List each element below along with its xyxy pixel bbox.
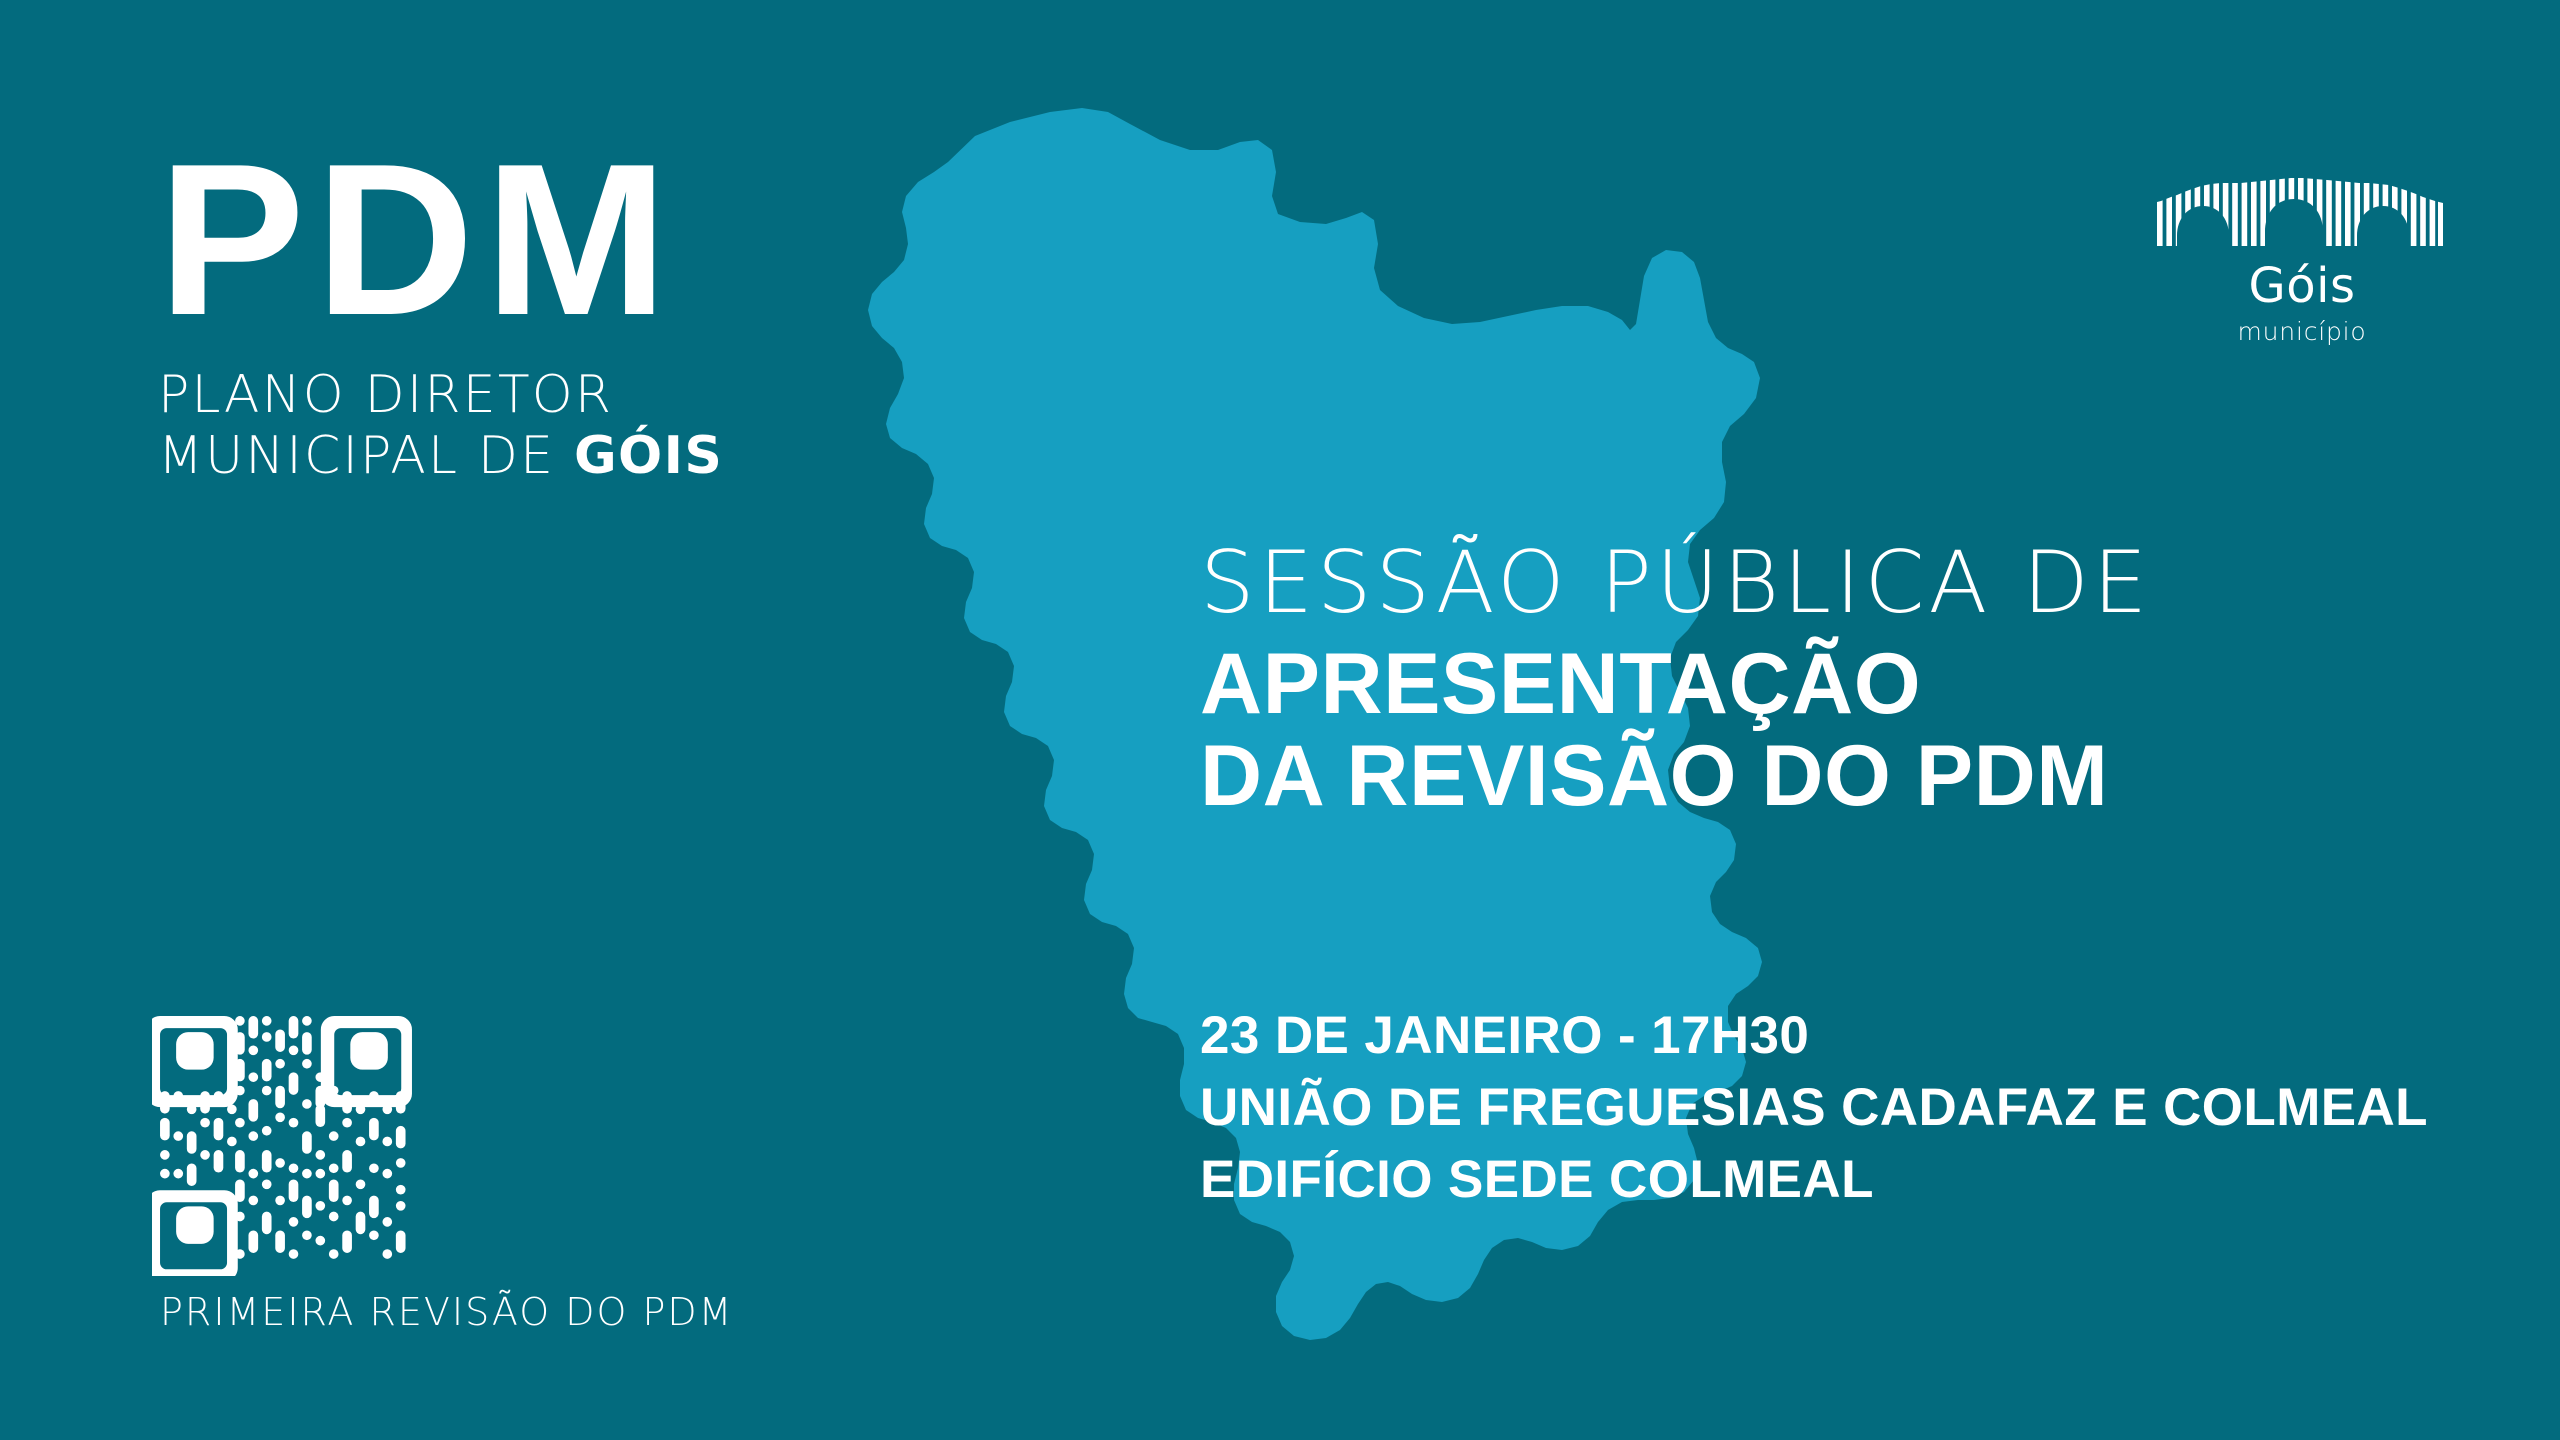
gois-municipality-logo: Góis município (2157, 178, 2447, 344)
event-datetime: 23 DE JANEIRO - 17H30 (1200, 1000, 2540, 1072)
headline-block: SESSÃO PÚBLICA DE APRESENTAÇÃO DA REVISÃ… (1200, 540, 2520, 824)
poster-canvas: PDM PLANO DIRETOR MUNICIPAL DE GÓIS (0, 0, 2560, 1440)
brand-subtitle: PLANO DIRETOR MUNICIPAL DE GÓIS (158, 365, 723, 488)
gois-logo-tagline: município (2157, 319, 2447, 344)
qr-caption: PRIMEIRA REVISÃO DO PDM (160, 1290, 733, 1334)
headline-title-line1: APRESENTAÇÃO (1200, 636, 2520, 732)
brand-subtitle-municipality: GÓIS (574, 426, 723, 486)
event-details-block: 23 DE JANEIRO - 17H30 UNIÃO DE FREGUESIA… (1200, 1000, 2540, 1216)
headline-title-line2: DA REVISÃO DO PDM (1200, 728, 2520, 824)
pdm-brand-block: PDM PLANO DIRETOR MUNICIPAL DE GÓIS (158, 140, 723, 487)
page-title: PDM (158, 140, 735, 339)
event-location-line1: UNIÃO DE FREGUESIAS CADAFAZ E COLMEAL (1200, 1072, 2540, 1144)
qr-code-icon[interactable] (152, 1008, 420, 1276)
headline-eyebrow: SESSÃO PÚBLICA DE (1200, 540, 2520, 628)
brand-subtitle-line2: MUNICIPAL DE GÓIS (158, 426, 723, 487)
bridge-arches-icon (2157, 178, 2443, 246)
event-location-line2: EDIFÍCIO SEDE COLMEAL (1200, 1144, 2540, 1216)
brand-subtitle-line1: PLANO DIRETOR (158, 365, 723, 426)
brand-subtitle-line2-prefix: MUNICIPAL DE (158, 426, 574, 486)
gois-logo-name: Góis (2157, 262, 2447, 310)
